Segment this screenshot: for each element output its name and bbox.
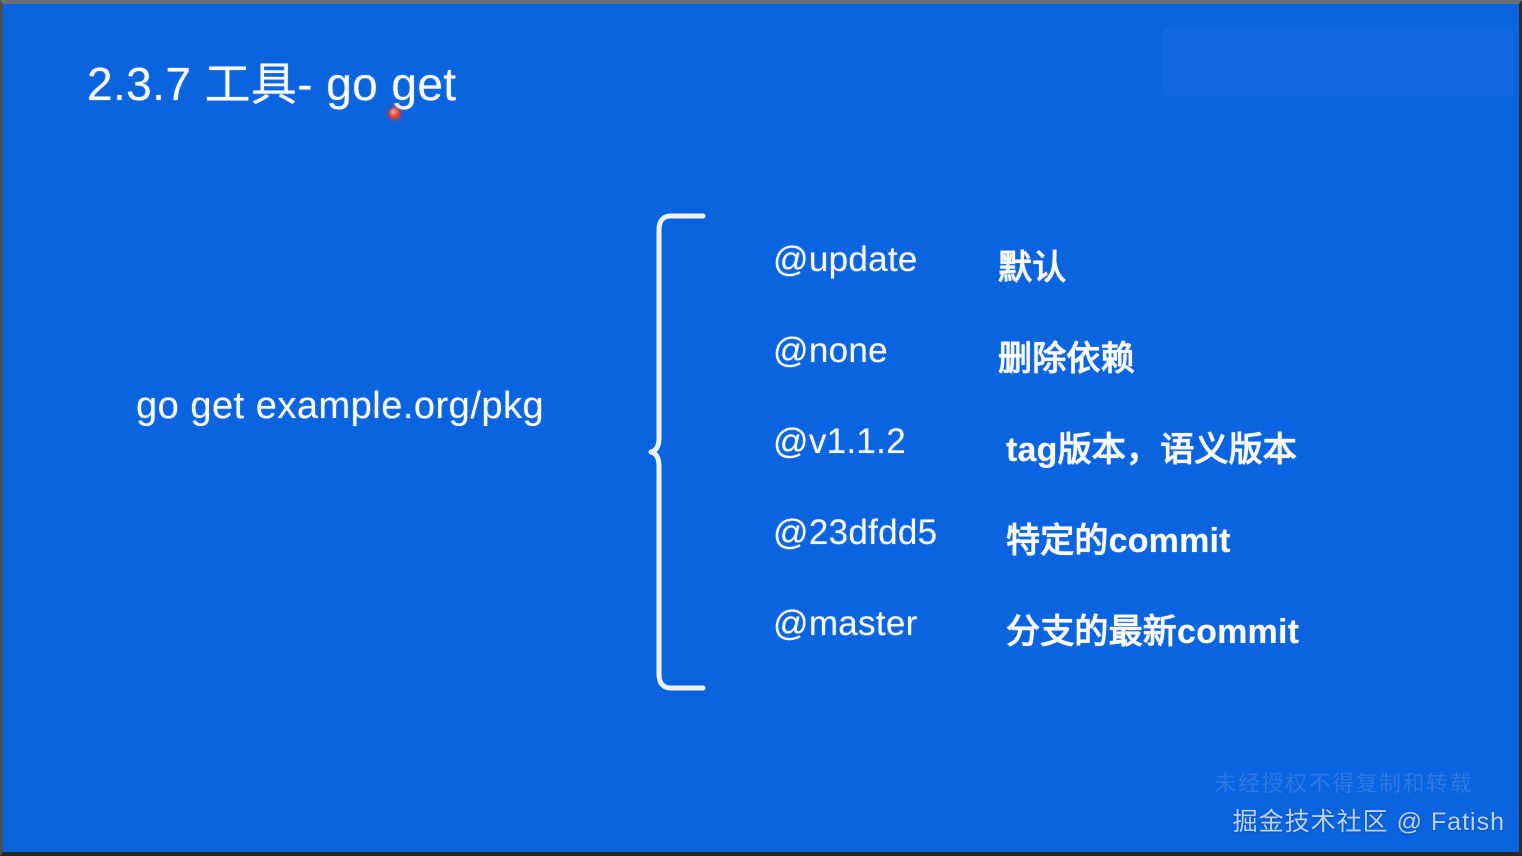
presentation-slide: 2.3.7 工具- go get go get example.org/pkg …	[0, 0, 1522, 856]
laser-pointer-dot	[389, 108, 400, 119]
page-title: 2.3.7 工具- go get	[87, 59, 456, 111]
option-desc: 默认	[998, 240, 1066, 289]
watermark-attribution: 掘金技术社区 @ Fatish	[1233, 802, 1505, 838]
list-item: @23dfdd5 特定的commit	[773, 513, 1413, 604]
option-key: @v1.1.2	[773, 422, 906, 462]
watermark-ghost: 未经授权不得复制和转载	[1214, 766, 1473, 798]
option-desc: 分支的最新commit	[1006, 604, 1299, 653]
option-key: @none	[773, 331, 888, 371]
list-item: @none 删除依赖	[773, 331, 1413, 422]
command-label: go get example.org/pkg	[136, 385, 544, 428]
list-item: @master 分支的最新commit	[773, 604, 1413, 695]
option-key: @update	[773, 240, 918, 280]
option-key: @master	[773, 604, 918, 644]
option-key: @23dfdd5	[773, 513, 937, 553]
list-item: @v1.1.2 tag版本，语义版本	[773, 422, 1413, 513]
option-desc: 特定的commit	[1006, 513, 1231, 562]
option-list: @update 默认 @none 删除依赖 @v1.1.2 tag版本，语义版本…	[773, 240, 1413, 695]
option-desc: 删除依赖	[998, 331, 1135, 380]
option-desc: tag版本，语义版本	[1006, 422, 1297, 471]
list-item: @update 默认	[773, 240, 1413, 331]
